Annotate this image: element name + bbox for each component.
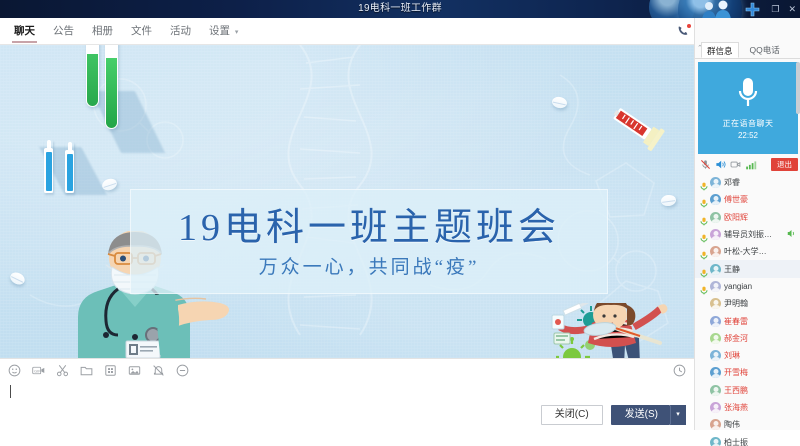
send-button[interactable]: 发送(S) — [611, 405, 670, 425]
member-name: yangian — [724, 282, 752, 291]
avatar-body — [711, 184, 720, 188]
member-list-item[interactable]: 刘琳 — [695, 347, 800, 364]
avatar-body — [711, 409, 720, 413]
avatar-body — [711, 236, 720, 240]
tab-announcement[interactable]: 公告 — [44, 18, 83, 45]
slide-subtitle: 万众一心，共同战“疫” — [131, 252, 607, 279]
window-titlebar: 19电科一班工作群 ❐ ✕ — [0, 0, 800, 18]
member-name: 傅世豪 — [724, 194, 748, 205]
close-button[interactable]: ✕ — [788, 5, 796, 14]
avatar — [710, 246, 721, 257]
camera-off-icon[interactable] — [730, 159, 741, 170]
tab-chat[interactable]: 聊天 — [5, 18, 44, 45]
restore-button[interactable]: ❐ — [771, 5, 779, 14]
member-list-scrollbar[interactable] — [796, 62, 800, 114]
tab-list: 聊天 公告 相册 文件 活动 设置 ▾ — [5, 18, 247, 45]
member-name: 柏士振 — [724, 437, 748, 446]
member-list-item[interactable]: 欧阳辉 — [695, 209, 800, 226]
mic-muted-icon[interactable] — [700, 159, 711, 170]
member-mic-icon — [700, 282, 708, 291]
avatar-body — [711, 305, 720, 309]
ampoule-liquid — [67, 154, 73, 191]
tab-chat-label: 聊天 — [14, 25, 35, 37]
avatar-body — [711, 340, 720, 344]
signal-bars-icon — [745, 159, 756, 170]
chevron-down-icon: ▾ — [235, 29, 239, 36]
scissors-icon[interactable] — [56, 364, 69, 377]
member-mic-icon — [700, 213, 708, 222]
emoji-icon[interactable] — [8, 364, 21, 377]
avatar-body — [711, 271, 720, 275]
ampoule-liquid — [46, 152, 52, 191]
minus-circle-icon[interactable] — [176, 364, 189, 377]
compose-toolbar: GIF — [8, 364, 189, 377]
avatar-body — [711, 357, 720, 361]
avatar — [710, 177, 721, 188]
member-list-item[interactable]: 尹明翰 — [695, 295, 800, 312]
member-list-item[interactable]: 王西鹏 — [695, 382, 800, 399]
member-mic-icon — [700, 247, 708, 256]
message-compose-area: GIF 关闭(C) 发送(S) ▾ — [0, 358, 694, 430]
tab-album[interactable]: 相册 — [83, 18, 122, 45]
member-list-item[interactable]: 陶伟 — [695, 416, 800, 433]
tab-settings[interactable]: 设置 ▾ — [200, 18, 247, 45]
member-name: 王静 — [724, 264, 740, 275]
member-list-item[interactable]: 辅导员刘振… — [695, 226, 800, 243]
tab-album-label: 相册 — [92, 25, 113, 37]
green-test-tube-2 — [105, 45, 118, 129]
sidebar-tab-qq-call-label: QQ电话 — [750, 45, 780, 55]
tab-files-label: 文件 — [131, 25, 152, 37]
avatar-body — [711, 392, 720, 396]
member-name: 刘琳 — [724, 350, 740, 361]
right-sidebar: ⌃ 群信息 QQ电话 正在语音聊天 22:52 退出 邓睿傅 — [694, 18, 800, 430]
test-tube-fill — [106, 58, 117, 128]
tab-announcement-label: 公告 — [53, 25, 74, 37]
member-name: 尹明翰 — [724, 298, 748, 309]
tab-activities[interactable]: 活动 — [161, 18, 200, 45]
member-list-item[interactable]: 王静 — [695, 260, 800, 277]
speaking-indicator-icon — [787, 229, 796, 240]
sidebar-tab-qq-call[interactable]: QQ电话 — [745, 42, 785, 58]
history-icon[interactable] — [673, 364, 686, 377]
member-list-item[interactable]: 邓睿 — [695, 174, 800, 191]
group-tabbar: 聊天 公告 相册 文件 活动 设置 ▾ — [0, 18, 800, 45]
avatar — [710, 350, 721, 361]
member-list-item[interactable]: yangian — [695, 278, 800, 295]
avatar-body — [711, 288, 720, 292]
send-options-caret-icon[interactable]: ▾ — [670, 405, 686, 425]
member-mic-icon — [700, 265, 708, 274]
member-list-item[interactable]: 傅世豪 — [695, 191, 800, 208]
avatar-body — [711, 323, 720, 327]
voice-timer: 22:52 — [698, 131, 798, 140]
member-name: 辅导员刘振… — [724, 229, 772, 240]
member-list-item[interactable]: 崔春雷 — [695, 312, 800, 329]
speaker-on-icon[interactable] — [715, 159, 726, 170]
tab-activities-label: 活动 — [170, 25, 191, 37]
microphone-icon — [737, 76, 759, 115]
green-test-tube-1 — [86, 45, 99, 107]
close-button[interactable]: 关闭(C) — [541, 405, 603, 425]
member-list-item[interactable]: 张海燕 — [695, 399, 800, 416]
test-tube-fill — [87, 54, 98, 106]
member-list-item[interactable]: 开雪梅 — [695, 364, 800, 381]
sick-child-illustration — [548, 303, 694, 358]
avatar — [710, 212, 721, 223]
member-mic-icon — [700, 178, 708, 187]
avatar — [710, 419, 721, 430]
shared-screen-stage[interactable]: 19电科一班主题班会 万众一心，共同战“疫” — [0, 45, 694, 358]
avatar — [710, 385, 721, 396]
avatar — [710, 264, 721, 275]
member-name: 陶伟 — [724, 419, 740, 430]
member-name: 叶松-大学… — [724, 246, 767, 257]
avatar — [710, 402, 721, 413]
svg-text:GIF: GIF — [34, 368, 41, 373]
avatar — [710, 229, 721, 240]
member-list-item[interactable]: 叶松-大学… — [695, 243, 800, 260]
avatar — [710, 367, 721, 378]
voice-controls: 退出 — [698, 156, 798, 172]
slide-title-plate: 19电科一班主题班会 万众一心，共同战“疫” — [130, 189, 608, 294]
blue-ampoule-1 — [44, 140, 53, 193]
slide-title: 19电科一班主题班会 — [131, 196, 607, 251]
notification-dot — [687, 24, 691, 28]
avatar-body — [711, 201, 720, 205]
member-name: 欧阳辉 — [724, 212, 748, 223]
member-name: 张海燕 — [724, 402, 748, 413]
image-icon[interactable] — [128, 364, 141, 377]
member-mic-icon — [700, 230, 708, 239]
avatar-body — [711, 374, 720, 378]
exit-voice-button[interactable]: 退出 — [771, 158, 798, 171]
compose-actions: 关闭(C) 发送(S) ▾ — [541, 405, 686, 425]
tab-settings-label: 设置 — [209, 25, 230, 37]
bell-off-icon[interactable] — [152, 364, 165, 377]
avatar-body — [711, 219, 720, 223]
member-name: 崔春雷 — [724, 316, 748, 327]
avatar — [710, 281, 721, 292]
sidebar-tab-group-info-label: 群信息 — [707, 46, 733, 56]
folder-icon[interactable] — [80, 364, 93, 377]
phone-icon[interactable] — [676, 25, 690, 39]
blue-ampoule-2 — [65, 142, 74, 193]
member-mic-icon — [700, 195, 708, 204]
sidebar-tab-group-info[interactable]: 群信息 — [701, 42, 739, 58]
avatar — [710, 437, 721, 446]
avatar — [710, 316, 721, 327]
add-member-icon[interactable] — [745, 2, 760, 17]
gif-icon[interactable]: GIF — [32, 364, 45, 377]
window-title: 19电科一班工作群 — [0, 0, 800, 18]
member-list-item[interactable]: 柏士振 — [695, 433, 800, 446]
member-name: 邓睿 — [724, 177, 740, 188]
voice-chat-card: 正在语音聊天 22:52 — [698, 62, 798, 154]
member-name: 郝金河 — [724, 333, 748, 344]
sidebar-tab-list: 群信息 QQ电话 — [695, 42, 800, 59]
member-list-item[interactable]: 郝金河 — [695, 330, 800, 347]
window-controls: ❐ ✕ — [771, 0, 796, 18]
voice-member-list[interactable]: 邓睿傅世豪欧阳辉辅导员刘振…叶松-大学…王静yangian尹明翰崔春雷郝金河刘琳… — [695, 174, 800, 446]
avatar-body — [711, 253, 720, 257]
tab-files[interactable]: 文件 — [122, 18, 161, 45]
avatar — [710, 298, 721, 309]
member-name: 王西鹏 — [724, 385, 748, 396]
message-input-caret — [10, 385, 11, 398]
send-button-group: 发送(S) ▾ — [611, 405, 686, 425]
voice-status-label: 正在语音聊天 — [698, 118, 798, 129]
avatar — [710, 194, 721, 205]
member-name: 开雪梅 — [724, 367, 748, 378]
shake-icon[interactable] — [104, 364, 117, 377]
avatar — [710, 333, 721, 344]
